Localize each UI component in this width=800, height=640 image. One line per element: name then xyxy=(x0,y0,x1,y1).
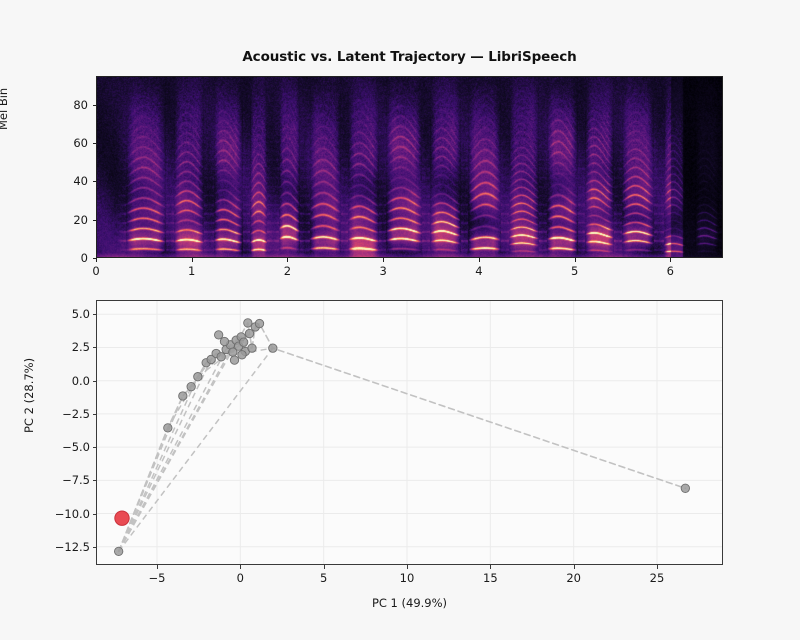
pca-trajectory-plot xyxy=(97,301,722,564)
scatter-x-ticklabel: 0 xyxy=(215,571,265,585)
trajectory-path xyxy=(119,323,686,551)
data-point xyxy=(217,353,225,361)
scatter-y-ticklabel: −7.5 xyxy=(42,473,90,487)
scatter-y-ticklabel: 2.5 xyxy=(42,340,90,354)
scatter-x-tickmark xyxy=(157,565,158,569)
scatter-x-ticklabel: 10 xyxy=(382,571,432,585)
scatter-y-ticklabel: −12.5 xyxy=(42,540,90,554)
spectrogram-y-tickmark xyxy=(93,258,97,259)
scatter-x-ticklabel: 5 xyxy=(299,571,349,585)
scatter-y-axis-label: PC 2 (28.7%) xyxy=(22,358,36,433)
scatter-y-ticklabel: 0.0 xyxy=(42,374,90,388)
spectrogram-x-tickmark xyxy=(575,258,576,262)
data-point xyxy=(179,392,187,400)
spectrogram-x-tickmark xyxy=(383,258,384,262)
scatter-x-tickmark xyxy=(657,565,658,569)
data-point xyxy=(239,338,247,346)
data-point xyxy=(187,382,195,390)
scatter-x-ticklabel: 15 xyxy=(465,571,515,585)
scatter-x-tickmark xyxy=(574,565,575,569)
spectrogram-y-tickmark xyxy=(93,181,97,182)
scatter-x-ticklabel: −5 xyxy=(132,571,182,585)
scatter-y-ticklabel: −10.0 xyxy=(42,507,90,521)
pca-scatter-axes xyxy=(96,300,723,565)
spectrogram-y-ticklabel: 0 xyxy=(48,251,88,265)
spectrogram-x-tickmark xyxy=(287,258,288,262)
trajectory-strand xyxy=(119,340,237,551)
spectrogram-y-tickmark xyxy=(93,105,97,106)
data-point xyxy=(114,547,122,555)
data-point xyxy=(220,337,228,345)
scatter-x-ticklabel: 20 xyxy=(549,571,599,585)
spectrogram-y-axis-label: Mel Bin xyxy=(0,88,10,130)
spectrogram-y-ticklabel: 60 xyxy=(48,136,88,150)
data-point xyxy=(164,424,172,432)
spectrogram-y-tickmark xyxy=(93,220,97,221)
spectrogram-x-ticklabel: 6 xyxy=(650,264,690,278)
scatter-y-tickmark xyxy=(93,381,97,382)
spectrogram-x-ticklabel: 0 xyxy=(76,264,116,278)
spectrogram-y-ticklabel: 80 xyxy=(48,98,88,112)
data-point xyxy=(194,373,202,381)
data-point xyxy=(269,344,277,352)
spectrogram-x-ticklabel: 1 xyxy=(172,264,212,278)
data-point xyxy=(681,484,689,492)
scatter-x-tickmark xyxy=(240,565,241,569)
spectrogram-y-ticklabel: 20 xyxy=(48,213,88,227)
data-point xyxy=(255,319,263,327)
spectrogram-x-ticklabel: 2 xyxy=(267,264,307,278)
scatter-y-tickmark xyxy=(93,314,97,315)
spectrogram-x-tickmark xyxy=(96,258,97,262)
scatter-y-tickmark xyxy=(93,514,97,515)
spectrogram-y-ticklabel: 40 xyxy=(48,174,88,188)
scatter-y-ticklabel: −5.0 xyxy=(42,440,90,454)
scatter-x-ticklabel: 25 xyxy=(632,571,682,585)
spectrogram-x-ticklabel: 4 xyxy=(459,264,499,278)
scatter-y-tickmark xyxy=(93,347,97,348)
data-point xyxy=(248,344,256,352)
scatter-y-tickmark xyxy=(93,547,97,548)
scatter-x-axis-label: PC 1 (49.9%) xyxy=(96,596,723,610)
data-point xyxy=(245,329,253,337)
scatter-y-ticklabel: 5.0 xyxy=(42,307,90,321)
mel-spectrogram-image xyxy=(97,77,723,258)
scatter-y-tickmark xyxy=(93,414,97,415)
trajectory-strand xyxy=(119,377,198,552)
trajectory-strand xyxy=(119,359,211,551)
scatter-y-ticklabel: −2.5 xyxy=(42,407,90,421)
scatter-x-tickmark xyxy=(407,565,408,569)
data-point xyxy=(214,331,222,339)
data-point xyxy=(244,319,252,327)
highlight-start-point xyxy=(115,511,129,525)
spectrogram-axes xyxy=(96,76,723,258)
spectrogram-x-tickmark xyxy=(479,258,480,262)
scatter-y-tickmark xyxy=(93,447,97,448)
scatter-x-tickmark xyxy=(490,565,491,569)
matplotlib-figure: Acoustic vs. Latent Trajectory — LibriSp… xyxy=(0,0,800,640)
scatter-x-tickmark xyxy=(324,565,325,569)
data-point xyxy=(238,351,246,359)
data-point xyxy=(230,356,238,364)
spectrogram-x-tickmark xyxy=(670,258,671,262)
spectrogram-x-ticklabel: 3 xyxy=(363,264,403,278)
figure-title: Acoustic vs. Latent Trajectory — LibriSp… xyxy=(96,49,723,65)
spectrogram-x-tickmark xyxy=(192,258,193,262)
scatter-y-tickmark xyxy=(93,480,97,481)
spectrogram-x-ticklabel: 5 xyxy=(555,264,595,278)
spectrogram-y-tickmark xyxy=(93,143,97,144)
trajectory-strand xyxy=(119,323,248,551)
